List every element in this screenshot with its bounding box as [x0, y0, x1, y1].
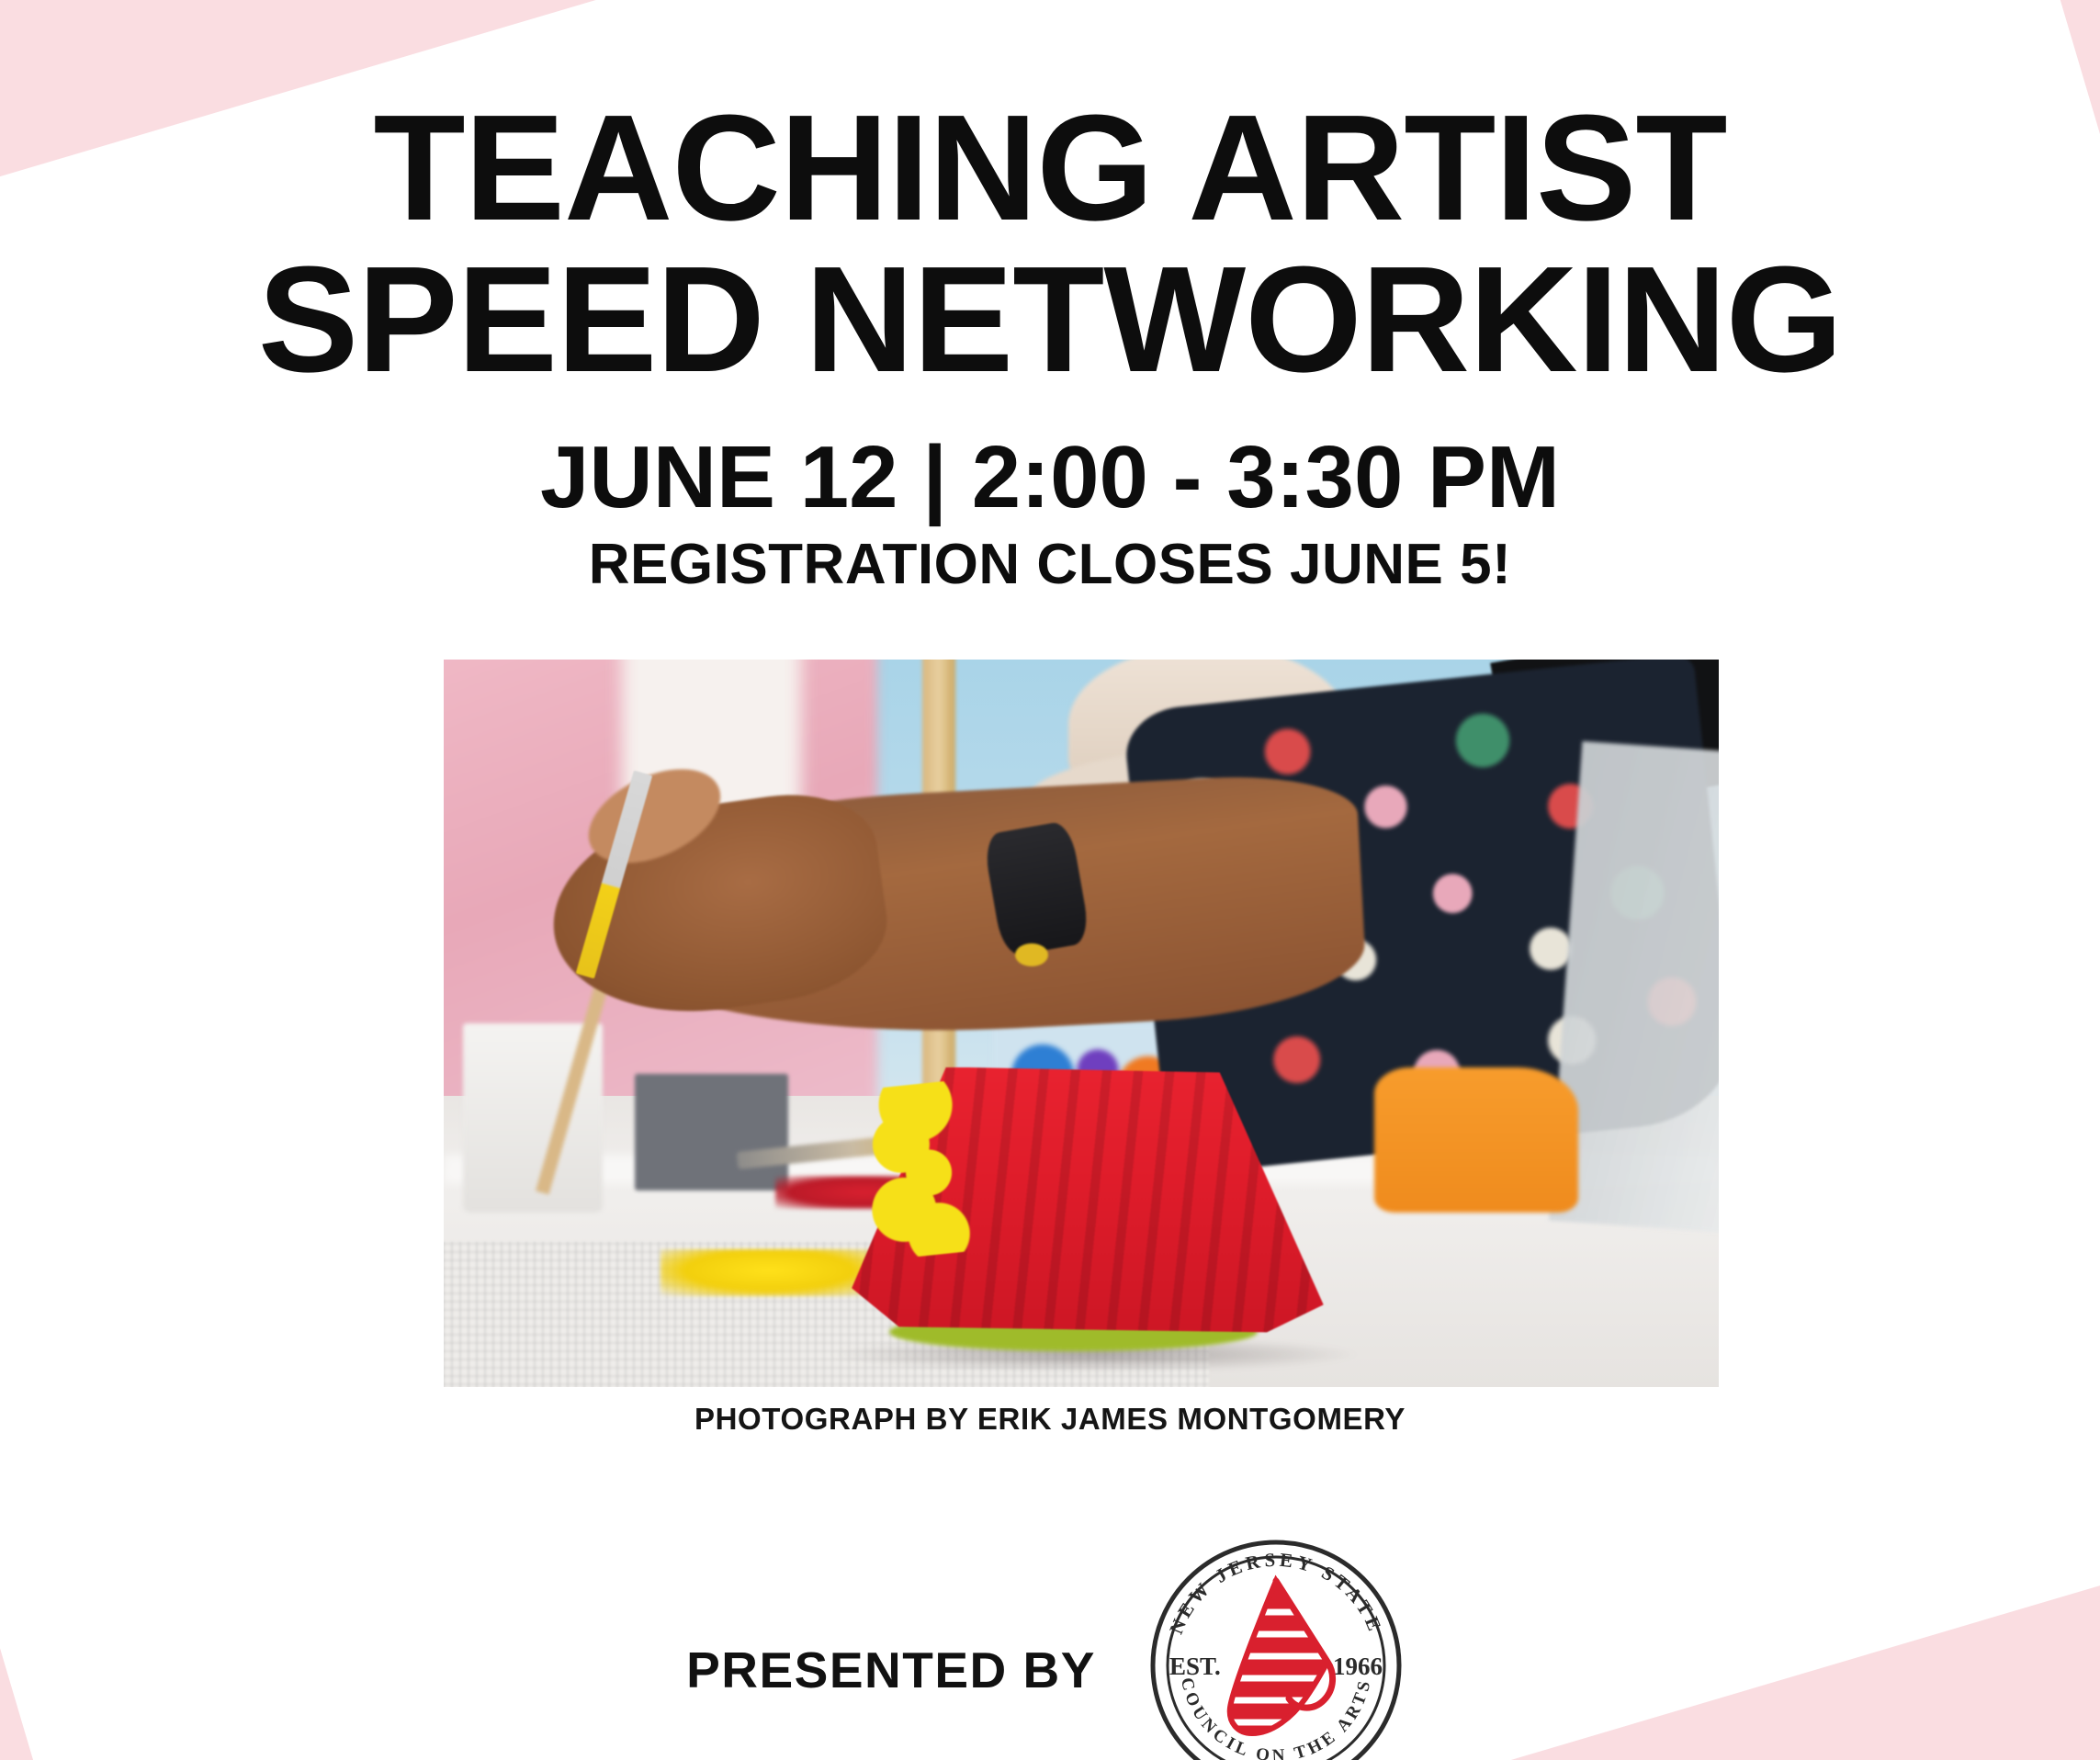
- presented-by-label: PRESENTED BY: [686, 1641, 1096, 1699]
- nj-state-council-on-the-arts-logo: NEW JERSEY STATE COUNCIL ON THE ARTS EST…: [1138, 1528, 1414, 1760]
- event-date-time: JUNE 12 | 2:00 - 3:30 PM: [0, 434, 2100, 522]
- photo-grey-paint-tray: [635, 1074, 788, 1190]
- photo-egg-carton-sculpture: [852, 1067, 1324, 1344]
- headline-line-1: TEACHING ARTIST: [0, 99, 2100, 238]
- registration-deadline: REGISTRATION CLOSES JUNE 5!: [0, 536, 2100, 593]
- event-photo-image: [444, 660, 1719, 1387]
- headline-line-2: SPEED NETWORKING: [0, 251, 2100, 389]
- poster-content: TEACHING ARTIST SPEED NETWORKING JUNE 12…: [0, 0, 2100, 1760]
- photo-credit: PHOTOGRAPH BY ERIK JAMES MONTGOMERY: [0, 1402, 2100, 1437]
- event-photo: [444, 660, 1719, 1387]
- logo-est-label: EST.: [1169, 1653, 1221, 1680]
- photo-sculpture-yellow-paint: [852, 1077, 992, 1261]
- poster-canvas: TEACHING ARTIST SPEED NETWORKING JUNE 12…: [0, 0, 2100, 1760]
- logo-year-label: 1966: [1333, 1653, 1383, 1680]
- photo-watch-detail: [1015, 943, 1048, 966]
- photo-orange-fabric: [1374, 1067, 1578, 1213]
- headline-block: TEACHING ARTIST SPEED NETWORKING JUNE 12…: [0, 99, 2100, 593]
- presented-by-row: PRESENTED BY NEW JERSEY STATE CO: [0, 1503, 2100, 1760]
- photo-yellow-paint-smear: [660, 1249, 877, 1296]
